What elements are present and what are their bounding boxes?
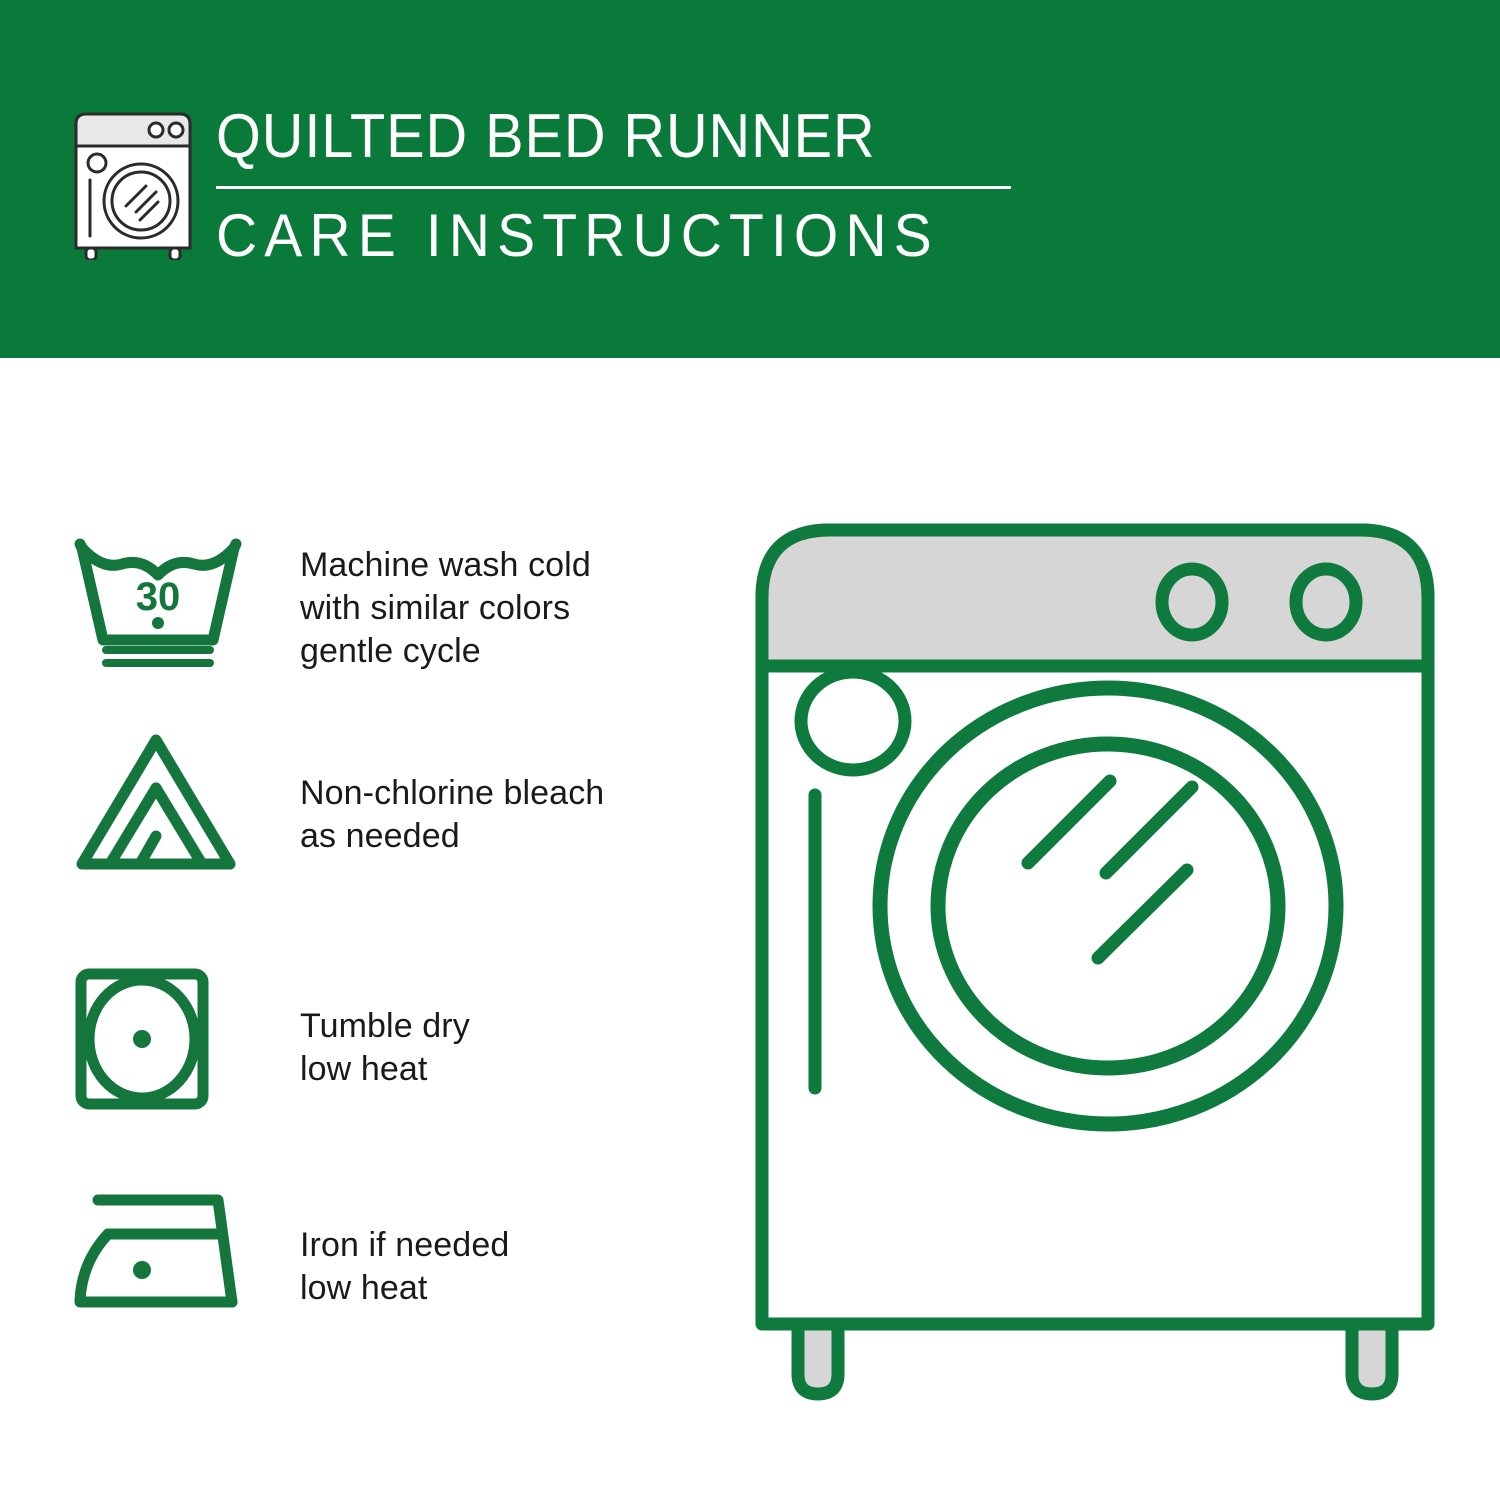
page-subtitle: CARE INSTRUCTIONS [216,202,976,270]
care-label-line: low heat [300,1267,509,1310]
care-label-tumble-dry: Tumble dry low heat [300,1005,470,1091]
washing-machine-icon [68,108,198,260]
control-knob-left [1162,569,1222,635]
machine-leg-left [798,1324,838,1394]
title-divider [216,186,1011,189]
care-label-iron: Iron if needed low heat [300,1224,509,1310]
care-label-bleach: Non-chlorine bleach as needed [300,772,604,858]
header-band: QUILTED BED RUNNER CARE INSTRUCTIONS [0,0,1500,358]
control-knob-right [1296,569,1356,635]
care-label-line: Machine wash cold [300,544,591,587]
care-label-machine-wash: Machine wash cold with similar colors ge… [300,544,591,673]
machine-leg-right [1352,1324,1392,1394]
non-chlorine-bleach-symbol [72,730,240,879]
care-label-line: Iron if needed [300,1224,509,1267]
machine-wash-30-gentle-symbol: 30 [72,528,244,673]
care-label-line: Non-chlorine bleach [300,772,604,815]
header-text-block: QUILTED BED RUNNER CARE INSTRUCTIONS [216,102,1016,270]
page-title: QUILTED BED RUNNER [216,102,960,172]
care-label-line: Tumble dry [300,1005,470,1048]
care-label-line: with similar colors [300,587,591,630]
care-instructions-page: QUILTED BED RUNNER CARE INSTRUCTIONS 30 [0,0,1500,1500]
care-label-line: low heat [300,1048,470,1091]
care-label-line: gentle cycle [300,630,591,673]
care-label-line: as needed [300,815,604,858]
machine-button [801,672,905,770]
tumble-dry-low-symbol [72,965,212,1118]
door-inner-ring [938,744,1278,1068]
washing-machine-illustration [740,498,1450,1408]
wash-temperature-label: 30 [136,575,181,619]
iron-low-heat-symbol [72,1190,240,1317]
